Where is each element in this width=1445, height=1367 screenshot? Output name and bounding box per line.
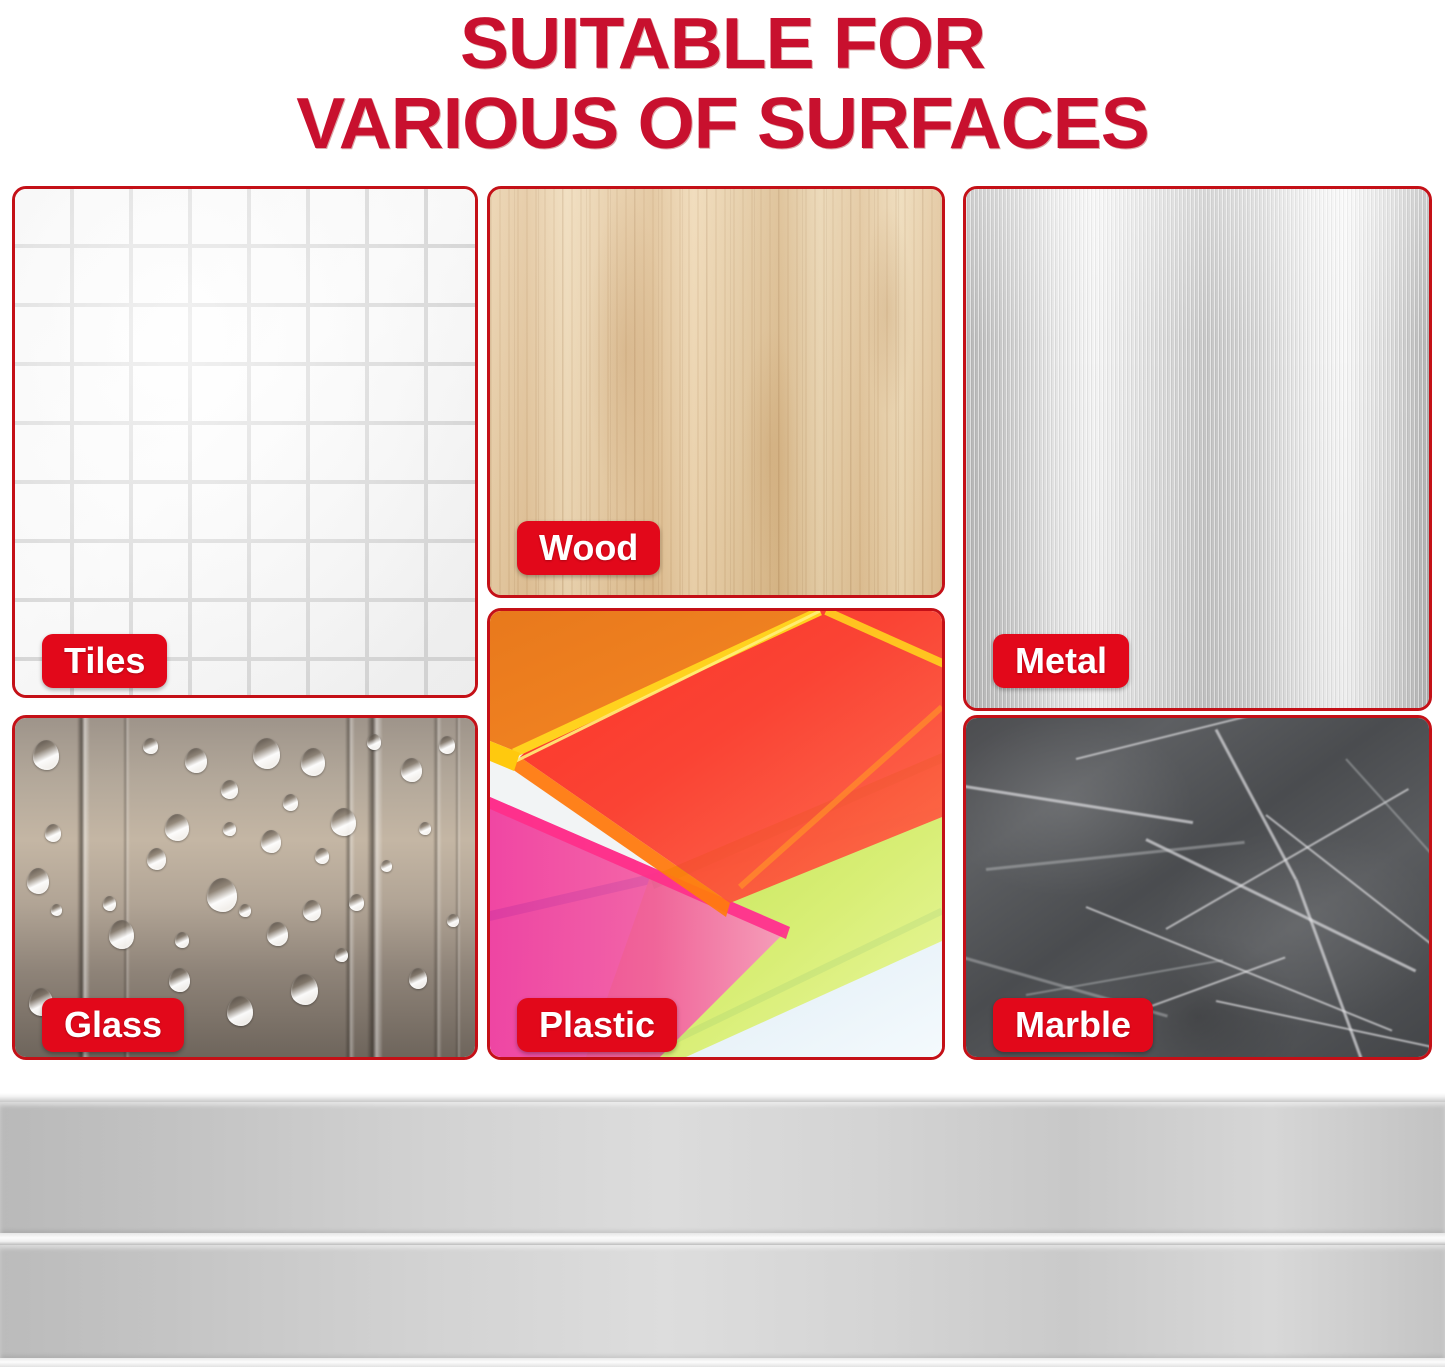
title-line-2: VARIOUS OF SURFACES bbox=[0, 84, 1445, 164]
title-line-1: SUITABLE FOR bbox=[0, 4, 1445, 84]
acrylic-sheets-illustration bbox=[490, 611, 942, 1057]
surface-panel-metal bbox=[963, 186, 1432, 711]
surface-panel-plastic bbox=[487, 608, 945, 1060]
badge-metal: Metal bbox=[993, 634, 1129, 688]
badge-plastic: Plastic bbox=[517, 998, 677, 1052]
badge-glass: Glass bbox=[42, 998, 184, 1052]
floor-seam-middle bbox=[0, 1233, 1445, 1245]
surface-panel-tiles bbox=[12, 186, 478, 698]
floor-top-edge bbox=[0, 1093, 1445, 1102]
floor-band-upper bbox=[0, 1102, 1445, 1233]
badge-marble: Marble bbox=[993, 998, 1153, 1052]
floor-band-lower bbox=[0, 1245, 1445, 1358]
metal-texture bbox=[966, 189, 1429, 708]
badge-wood: Wood bbox=[517, 521, 660, 575]
page-title: SUITABLE FOR VARIOUS OF SURFACES bbox=[0, 0, 1445, 172]
floor-seam-bottom bbox=[0, 1358, 1445, 1367]
plastic-texture bbox=[490, 611, 942, 1057]
badge-tiles: Tiles bbox=[42, 634, 167, 688]
tiles-texture bbox=[15, 189, 475, 695]
